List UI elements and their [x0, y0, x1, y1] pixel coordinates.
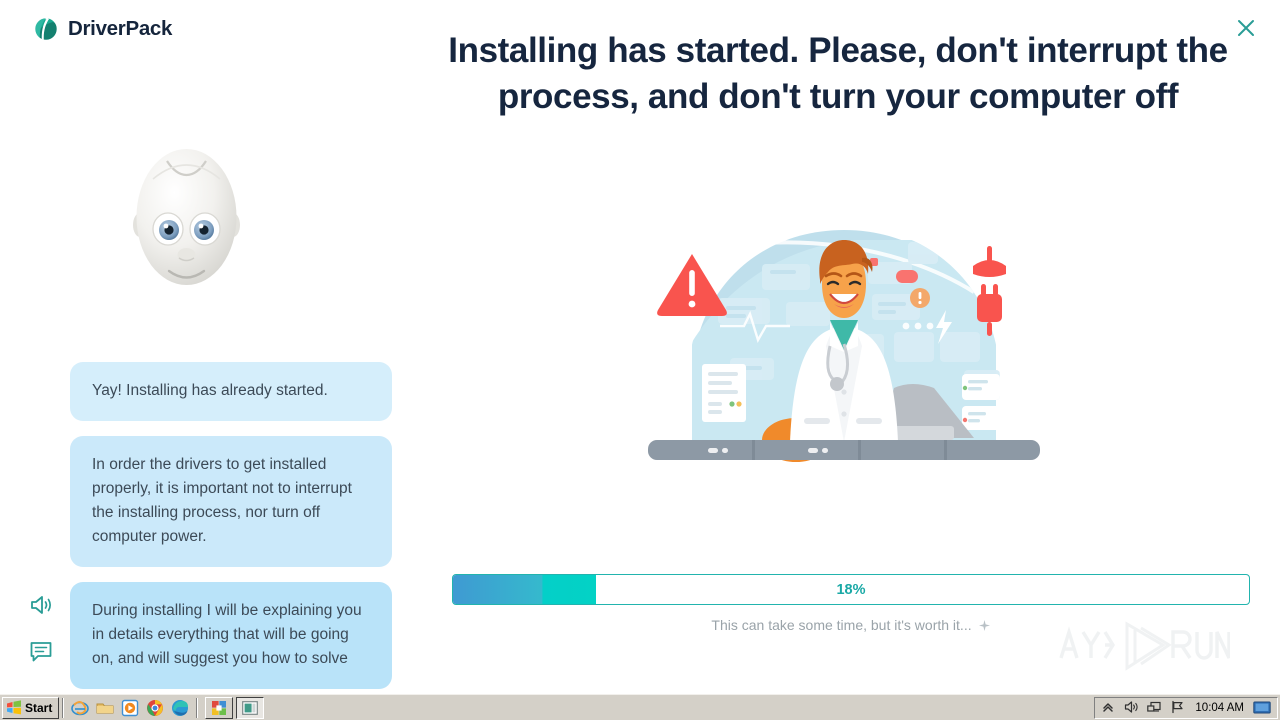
progress-bar[interactable]: 18% [452, 574, 1250, 605]
chat-icon[interactable] [28, 638, 54, 664]
technician-installing-illustration [644, 222, 1044, 467]
system-tray: 10:04 AM [1094, 697, 1278, 719]
sound-icon-glyph [28, 592, 54, 618]
network-icon[interactable] [1147, 700, 1163, 716]
installation-panel: Installing has started. Please, don't in… [420, 0, 1280, 694]
progress-note: This can take some time, but it's worth … [452, 617, 1250, 633]
progress-percent-label: 18% [453, 575, 1249, 604]
quick-launch-bar [67, 699, 193, 717]
robot-head-icon [129, 145, 244, 295]
driverpack-installer-window: DriverPack [0, 0, 1280, 694]
windows-taskbar: Start [0, 694, 1280, 720]
driverpack-taskbar-icon [211, 700, 227, 716]
driverpack-globe-icon [33, 16, 59, 42]
chrome-glyph [146, 699, 164, 717]
internet-explorer-glyph [71, 699, 89, 717]
assistant-panel: DriverPack [0, 0, 420, 694]
edge-icon[interactable] [171, 699, 189, 717]
brand-logo: DriverPack [33, 16, 172, 42]
taskbar-window-buttons [201, 697, 264, 719]
warning-triangle-icon [657, 254, 727, 316]
desktop-glyph [1253, 701, 1271, 715]
installation-progress: 18% This can take some time, but it's wo… [452, 574, 1250, 633]
volume-icon[interactable] [1124, 700, 1140, 716]
chat-bubble: In order the drivers to get installed pr… [70, 436, 392, 567]
sparkle-icon [978, 619, 991, 632]
progress-note-text: This can take some time, but it's worth … [711, 617, 971, 633]
taskbar-driverpack-window[interactable] [205, 697, 233, 719]
sound-icon[interactable] [28, 592, 54, 618]
volume-glyph [1124, 700, 1139, 714]
robot-assistant-avatar [129, 145, 244, 295]
chevron-up-icon [1101, 700, 1115, 714]
taskbar-active-window[interactable] [236, 697, 264, 719]
chrome-icon[interactable] [146, 699, 164, 717]
windows-flag-icon [6, 700, 22, 715]
assistant-side-icons [28, 592, 54, 664]
network-glyph [1147, 700, 1162, 714]
taskbar-separator [196, 698, 198, 718]
show-hidden-icons-chevron-icon[interactable] [1101, 700, 1117, 716]
chat-bubble: During installing I will be explaining y… [70, 582, 392, 689]
start-button[interactable]: Start [2, 697, 59, 719]
chat-icon-glyph [28, 638, 54, 664]
page-title: Installing has started. Please, don't in… [438, 28, 1238, 120]
chat-bubble: Yay! Installing has already started. [70, 362, 392, 421]
desktop-icon[interactable] [1253, 701, 1271, 715]
brand-name: DriverPack [68, 17, 172, 41]
illustration-graphic [644, 222, 1044, 467]
media-player-icon[interactable] [121, 699, 139, 717]
flag-glyph [1170, 700, 1185, 714]
media-player-glyph [121, 699, 139, 717]
assistant-chat-list: Yay! Installing has already started. In … [70, 362, 392, 694]
clock[interactable]: 10:04 AM [1193, 702, 1246, 714]
folder-glyph [96, 699, 114, 717]
edge-glyph [171, 699, 189, 717]
start-button-label: Start [25, 701, 52, 715]
folder-icon[interactable] [96, 699, 114, 717]
flag-action-center-icon[interactable] [1170, 700, 1186, 716]
window-taskbar-icon [242, 701, 258, 715]
internet-explorer-icon[interactable] [71, 699, 89, 717]
taskbar-separator [62, 698, 64, 718]
